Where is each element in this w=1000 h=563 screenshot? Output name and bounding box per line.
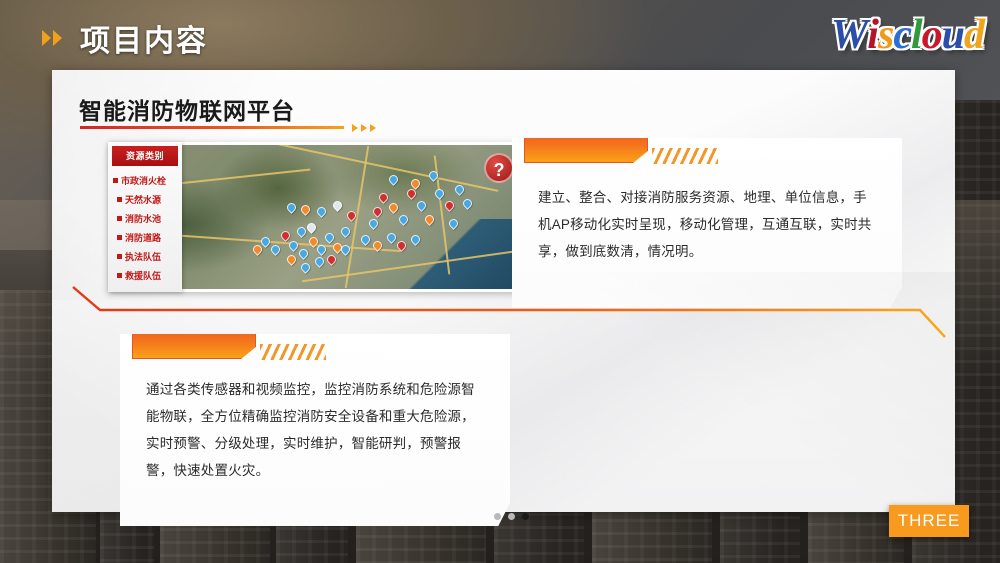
legend-square-icon xyxy=(117,235,122,240)
map-marker xyxy=(359,233,372,246)
logo-letter: c xyxy=(893,10,911,60)
map-marker xyxy=(461,197,474,210)
map-marker xyxy=(433,187,446,200)
logo-letter: u xyxy=(942,10,964,60)
map-marker xyxy=(305,221,318,234)
map-marker xyxy=(385,231,398,244)
map-road xyxy=(263,145,498,192)
text-box-body: 建立、整合、对接消防服务资源、地理、单位信息，手机AP移动化实时呈现，移动化管理… xyxy=(538,184,880,265)
map-marker xyxy=(285,201,298,214)
map-marker xyxy=(287,239,300,252)
wiscloud-logo: Wiscloud xyxy=(831,10,984,60)
legend-item-label: 天然水源 xyxy=(125,193,161,206)
legend-item-5[interactable]: 救援队伍 xyxy=(113,266,182,285)
map-marker xyxy=(371,205,384,218)
map-marker xyxy=(331,199,344,212)
legend-square-icon xyxy=(117,254,122,259)
slide-header: 项目内容 Wiscloud xyxy=(0,0,1000,70)
legend-item-4[interactable]: 执法队伍 xyxy=(113,247,182,266)
legend-item-label: 市政消火栓 xyxy=(121,174,166,187)
logo-letter: l xyxy=(911,10,922,60)
legend-item-label: 消防道路 xyxy=(125,231,161,244)
legend-item-label: 救援队伍 xyxy=(125,269,161,282)
triple-arrow-icon xyxy=(352,124,392,134)
map-marker xyxy=(299,203,312,216)
map-marker xyxy=(339,225,352,238)
text-box-body: 通过各类传感器和视频监控，监控消防系统和危险源智能物联，全方位精确监控消防安全设… xyxy=(146,376,488,484)
map-legend: 资源类别 市政消火栓 天然水源 消防水池 消防道路 执法队伍 xyxy=(108,142,182,292)
text-box-sensors: 通过各类传感器和视频监控，监控消防系统和危险源智能物联，全方位精确监控消防安全设… xyxy=(120,334,510,526)
legend-item-3[interactable]: 消防道路 xyxy=(113,228,182,247)
map-marker xyxy=(299,261,312,274)
map-marker xyxy=(443,199,456,212)
legend-square-icon xyxy=(113,178,118,183)
legend-square-icon xyxy=(117,273,122,278)
logo-letter: W xyxy=(831,10,867,60)
map-marker xyxy=(387,201,400,214)
map-marker xyxy=(285,253,298,266)
slide-heading: 智能消防物联网平台 xyxy=(79,92,295,126)
pagination-dot[interactable] xyxy=(508,513,515,520)
legend-square-icon xyxy=(117,216,122,221)
legend-item-label: 消防水池 xyxy=(125,212,161,225)
map-marker xyxy=(313,255,326,268)
legend-item-1[interactable]: 天然水源 xyxy=(113,190,182,209)
map-marker xyxy=(377,191,390,204)
legend-item-label: 执法队伍 xyxy=(125,250,161,263)
map-marker xyxy=(387,173,400,186)
heading-underline xyxy=(80,126,344,129)
logo-letter: s xyxy=(878,10,893,60)
map-marker xyxy=(315,205,328,218)
legend-item-0[interactable]: 市政消火栓 xyxy=(113,171,182,190)
slide-pagination-dots[interactable] xyxy=(494,513,529,520)
slide-number-badge: THREE xyxy=(889,505,969,537)
legend-title: 资源类别 xyxy=(112,146,178,166)
double-chevron-right-icon xyxy=(42,30,72,46)
map-water xyxy=(398,219,528,289)
legend-square-icon xyxy=(117,197,122,202)
map-marker xyxy=(367,217,380,230)
map-help-badge[interactable]: ? xyxy=(484,153,514,183)
map-marker xyxy=(415,199,428,212)
map-marker xyxy=(279,229,292,242)
logo-letter: d xyxy=(964,10,984,60)
diagonal-stripes-decoration xyxy=(652,148,718,164)
text-box-tab xyxy=(524,131,648,163)
logo-letter: i xyxy=(867,10,878,60)
page-title: 项目内容 xyxy=(80,16,208,60)
logo-letter: o xyxy=(922,10,942,60)
map-marker xyxy=(323,231,336,244)
pagination-dot-active[interactable] xyxy=(522,513,529,520)
pagination-dot[interactable] xyxy=(494,513,501,520)
diagonal-stripes-decoration xyxy=(260,344,326,360)
text-box-tab xyxy=(132,327,256,359)
slide-content-card: 智能消防物联网平台 xyxy=(52,70,955,512)
map-marker xyxy=(297,247,310,260)
map-marker xyxy=(269,243,282,256)
legend-item-2[interactable]: 消防水池 xyxy=(113,209,182,228)
text-box-resources: 建立、整合、对接消防服务资源、地理、单位信息，手机AP移动化实时呈现，移动化管理… xyxy=(512,138,902,308)
map-marker xyxy=(325,253,338,266)
map-marker xyxy=(453,183,466,196)
legend-list: 市政消火栓 天然水源 消防水池 消防道路 执法队伍 救援队伍 xyxy=(108,166,182,285)
